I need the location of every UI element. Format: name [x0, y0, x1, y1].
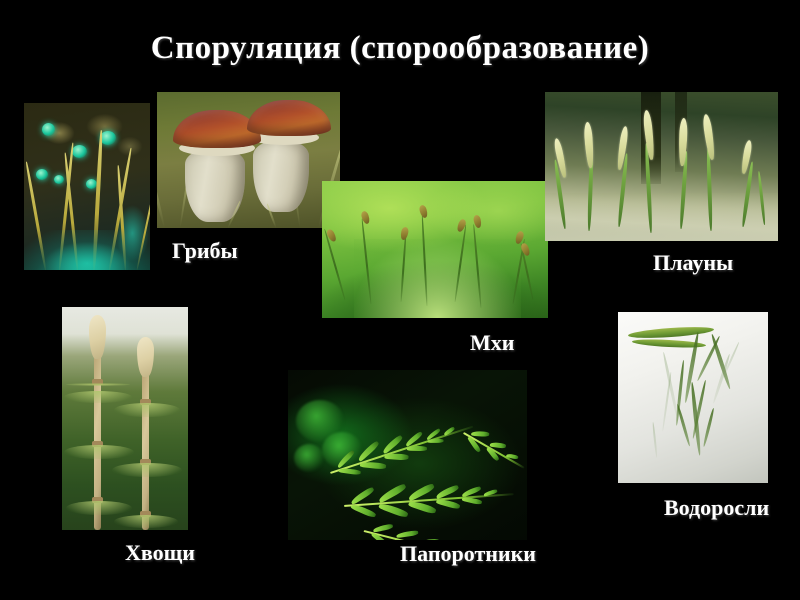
algae-mat	[628, 325, 714, 340]
moss-tuft	[354, 239, 521, 318]
caption-fungi: Грибы	[172, 238, 238, 264]
fern-pinna	[384, 453, 408, 461]
spore-dot	[42, 123, 55, 136]
fern-pinna	[471, 431, 489, 437]
leaf-whorl	[114, 403, 180, 417]
horsetail-stem	[142, 369, 149, 530]
glowing-substrate	[24, 230, 150, 270]
mushroom-stem	[253, 140, 309, 212]
fern-pinna	[428, 439, 444, 443]
caption-moss: Мхи	[470, 330, 514, 356]
algae-filament-wisp	[662, 372, 672, 432]
background-bokeh	[294, 444, 324, 472]
fern-pinna	[407, 446, 427, 452]
fern-pinna	[396, 530, 418, 538]
leaf-whorl	[64, 391, 132, 403]
spore-dot	[54, 175, 64, 184]
image-algae	[618, 312, 768, 483]
caption-clubmoss: Плауны	[653, 250, 733, 276]
leaf-whorl	[114, 515, 178, 528]
image-mushrooms	[157, 92, 340, 228]
image-fern	[288, 370, 527, 540]
spore-cone	[583, 122, 594, 168]
algae-filament-wisp	[652, 422, 658, 458]
fern-pinna	[408, 499, 437, 515]
spore-dot	[72, 145, 87, 158]
image-horsetail	[62, 307, 188, 530]
spore-cone	[137, 337, 154, 377]
page-title: Споруляция (спорообразование)	[0, 30, 800, 67]
fern-pinna	[378, 501, 409, 518]
algae-filament-wisp	[722, 342, 740, 379]
spore-dot	[100, 131, 116, 145]
image-clubmoss	[545, 92, 778, 241]
algae-strand	[702, 408, 715, 448]
image-moss	[322, 181, 548, 318]
grass-blade	[157, 144, 166, 228]
fern-frond	[459, 423, 527, 475]
mushroom-cap	[247, 100, 331, 136]
fern-frond	[343, 480, 514, 518]
leaf-whorl	[64, 445, 134, 459]
spore-capsule	[418, 204, 428, 218]
leaf-whorl	[112, 463, 182, 477]
fern-frond	[362, 520, 483, 540]
fern-pinna	[373, 524, 394, 533]
leaf-whorl	[66, 501, 132, 515]
caption-fern: Папоротники	[400, 541, 536, 567]
fern-pinna	[339, 467, 361, 475]
fern-pinna	[360, 461, 386, 470]
caption-algae: Водоросли	[664, 495, 769, 521]
fern-pinna	[421, 539, 439, 540]
leaf-whorl	[66, 383, 130, 386]
algae-strand	[676, 404, 691, 447]
image-fungi-micrograph	[24, 103, 150, 270]
spore-cone	[89, 315, 106, 359]
spore-cone	[702, 114, 716, 161]
spore-dot	[36, 169, 48, 180]
caption-horsetail: Хвощи	[125, 540, 195, 566]
presentation-slide: Споруляция (спорообразование)	[0, 0, 800, 600]
